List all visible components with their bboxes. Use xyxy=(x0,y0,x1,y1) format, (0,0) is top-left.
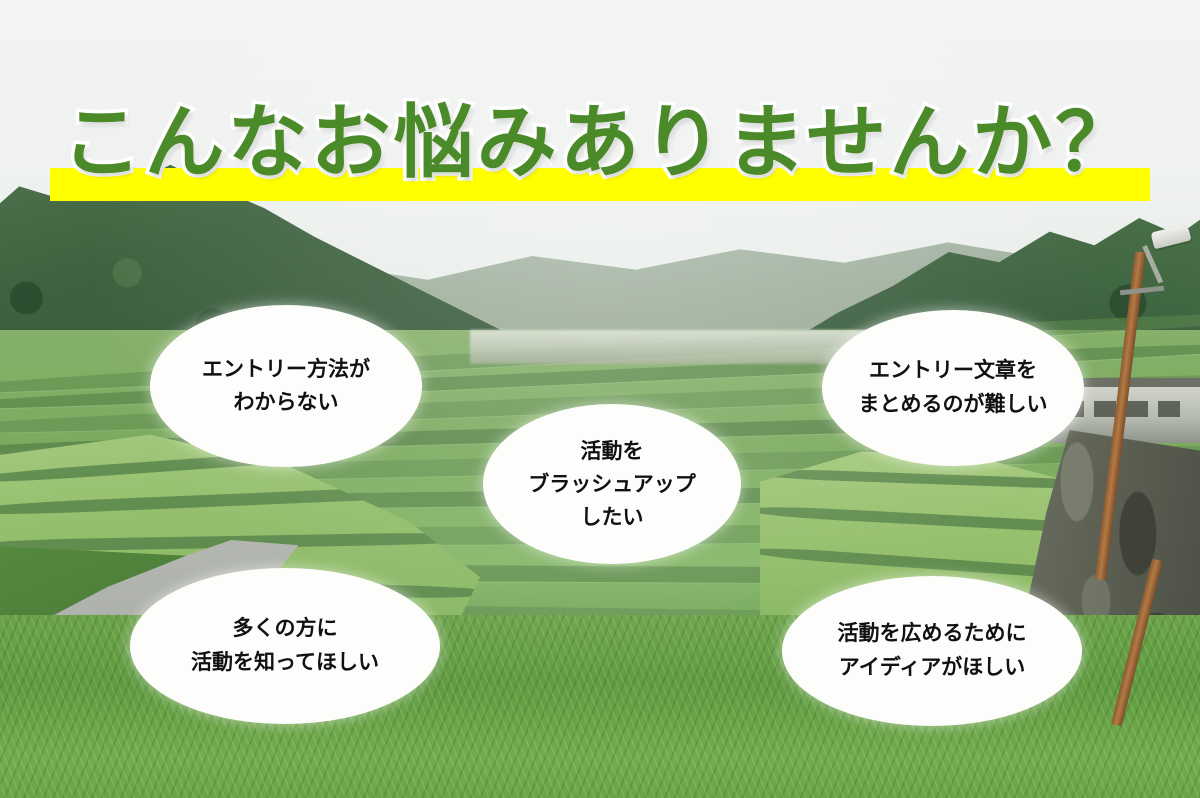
bubble-line: わからない xyxy=(234,386,339,419)
bubble-line: エントリー文章を xyxy=(869,354,1037,388)
bubble-entry-writing: エントリー文章をまとめるのが難しい xyxy=(822,310,1084,466)
bubble-line: まとめるのが難しい xyxy=(859,388,1048,422)
headline: こんなお悩みありませんか？ xyxy=(0,86,1200,206)
bubble-line: 多くの方に xyxy=(233,612,338,646)
slide-canvas: こんなお悩みありませんか？ エントリー方法がわからない活動をブラッシュアップした… xyxy=(0,0,1200,798)
bubble-need-ideas: 活動を広めるためにアイディアがほしい xyxy=(782,576,1082,726)
bubble-line: したい xyxy=(581,501,644,534)
bubble-entry-method: エントリー方法がわからない xyxy=(150,305,422,467)
building-window xyxy=(1158,401,1180,417)
headline-text: こんなお悩みありませんか？ xyxy=(0,86,1200,200)
bubble-line: 活動を広めるために xyxy=(838,617,1027,651)
bubble-line: アイディアがほしい xyxy=(839,651,1025,685)
bubble-line: 活動を xyxy=(581,435,644,468)
bubble-line: 活動を知ってほしい xyxy=(191,646,379,680)
building-window xyxy=(1094,401,1116,417)
bubble-spread-activity: 多くの方に活動を知ってほしい xyxy=(130,568,440,724)
bubble-line: エントリー方法が xyxy=(202,353,370,386)
bubble-brush-up: 活動をブラッシュアップしたい xyxy=(483,404,741,564)
bubble-line: ブラッシュアップ xyxy=(528,468,696,501)
building-window xyxy=(1126,401,1148,417)
